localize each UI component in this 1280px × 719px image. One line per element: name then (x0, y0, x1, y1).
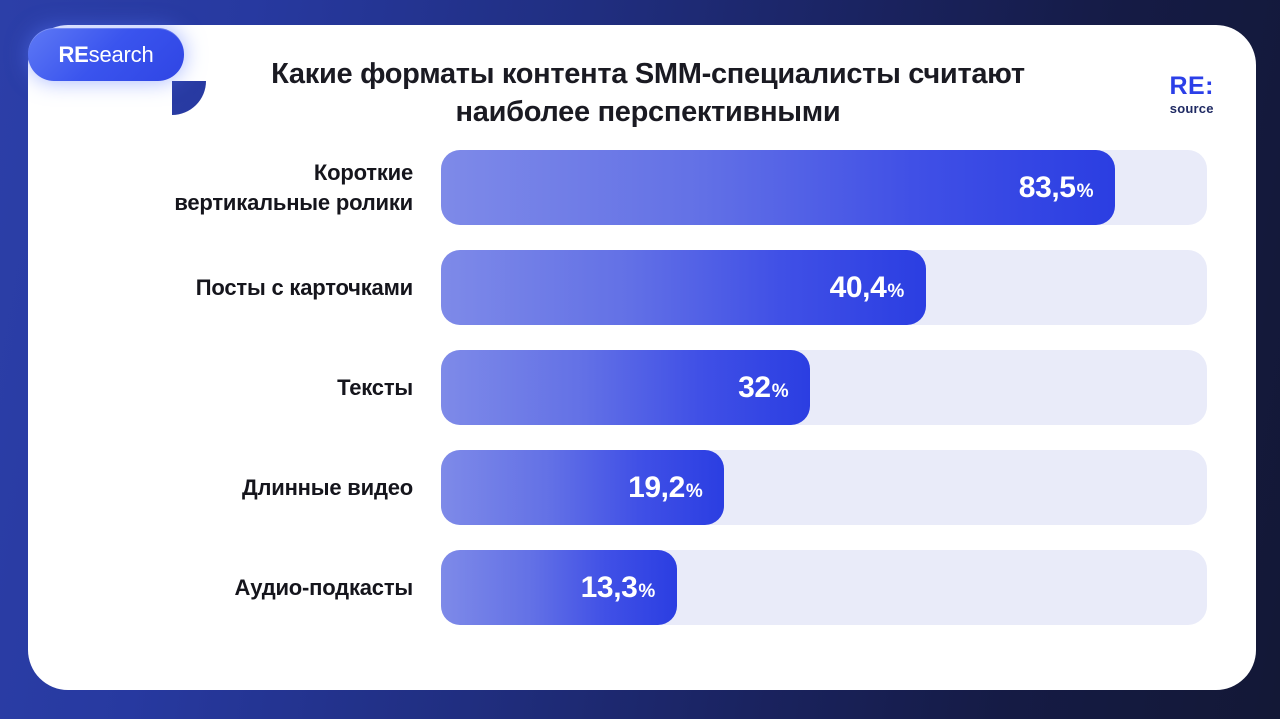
chart-row: Посты с карточками40,4% (28, 250, 1256, 325)
research-badge-label: REsearch (58, 42, 153, 68)
chart-row: Короткие вертикальные ролики83,5% (28, 150, 1256, 225)
bar-track: 19,2% (441, 450, 1207, 525)
bar-fill: 19,2% (441, 450, 724, 525)
bar-value-label: 19,2% (628, 471, 702, 505)
bar-category-label: Длинные видео (28, 450, 413, 525)
bar-track: 32% (441, 350, 1207, 425)
chart-row: Длинные видео19,2% (28, 450, 1256, 525)
bar-track: 13,3% (441, 550, 1207, 625)
bar-chart: Короткие вертикальные ролики83,5%Посты с… (28, 150, 1256, 625)
bar-value-number: 19,2 (628, 471, 685, 505)
card-header: Какие форматы контента SMM-специалисты с… (28, 55, 1256, 155)
badge-suffix: search (89, 42, 154, 67)
bar-category-label: Короткие вертикальные ролики (28, 150, 413, 225)
bar-value-percent-sign: % (1077, 181, 1094, 203)
bar-fill: 40,4% (441, 250, 926, 325)
bar-value-label: 40,4% (830, 271, 904, 305)
bar-value-label: 13,3% (581, 571, 655, 605)
infographic-card: Какие форматы контента SMM-специалисты с… (28, 25, 1256, 690)
bar-value-number: 13,3 (581, 571, 638, 605)
bar-track: 40,4% (441, 250, 1207, 325)
bar-value-number: 83,5 (1019, 171, 1076, 205)
logo-main-text: RE: (1169, 74, 1214, 99)
card-notch-corner (172, 81, 206, 115)
bar-value-percent-sign: % (887, 281, 904, 303)
bar-value-percent-sign: % (772, 381, 789, 403)
bar-value-number: 40,4 (830, 271, 887, 305)
bar-value-label: 83,5% (1019, 171, 1093, 205)
page-title: Какие форматы контента SMM-специалисты с… (208, 55, 1088, 131)
chart-row: Аудио-подкасты13,3% (28, 550, 1256, 625)
bar-value-number: 32 (738, 371, 771, 405)
bar-category-label: Тексты (28, 350, 413, 425)
badge-prefix: RE (58, 42, 88, 67)
logo-sub-text: source (1169, 102, 1214, 115)
chart-row: Тексты32% (28, 350, 1256, 425)
bar-category-label: Аудио-подкасты (28, 550, 413, 625)
bar-value-label: 32% (738, 371, 788, 405)
bar-value-percent-sign: % (686, 481, 703, 503)
bar-fill: 13,3% (441, 550, 677, 625)
bar-fill: 32% (441, 350, 810, 425)
bar-track: 83,5% (441, 150, 1207, 225)
bar-category-label: Посты с карточками (28, 250, 413, 325)
bar-value-percent-sign: % (638, 581, 655, 603)
bar-fill: 83,5% (441, 150, 1115, 225)
research-badge: REsearch (28, 28, 184, 81)
resource-logo: RE: source (1169, 74, 1214, 115)
